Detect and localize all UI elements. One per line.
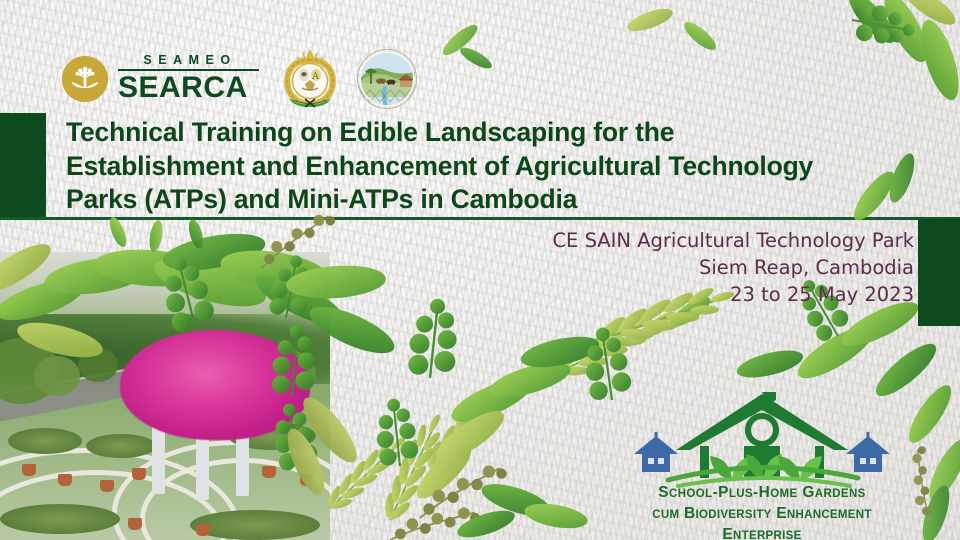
sphg-l2-f: E	[722, 526, 733, 540]
small-house-left-icon	[634, 432, 678, 472]
photo-plant-pot	[58, 474, 72, 486]
sphg-logo[interactable]: SCHOOL-PLUS-HOME GARDENS CUM BIODIVERSIT…	[612, 388, 912, 538]
photo-garden-bed	[86, 434, 156, 458]
tree-emblem-icon	[68, 60, 102, 94]
sphg-l1-c: -P	[713, 484, 729, 501]
svg-text:A: A	[311, 72, 319, 82]
searca-text: SEARCA	[118, 73, 259, 104]
location-line: Siem Reap, Cambodia	[552, 255, 914, 282]
photo-plant-pot	[196, 524, 210, 536]
sphg-l2-d: E	[772, 505, 787, 522]
left-green-block	[0, 113, 46, 218]
title-line-2: Establishment and Enhancement of Agricul…	[66, 150, 946, 184]
sphg-l1-h: ARDENS	[815, 488, 866, 500]
seameo-text: SEAMEO	[118, 54, 259, 71]
header-logo-row: SEAMEO SEARCA A	[62, 48, 417, 110]
photo-garden-bed	[8, 428, 82, 454]
poster-canvas: SEAMEO SEARCA A	[0, 0, 960, 540]
photo-plant-pot	[300, 474, 314, 486]
photo-plant-pot	[100, 480, 114, 492]
title-line-3: Parks (ATPs) and Mini-ATPs in Cambodia	[66, 183, 946, 217]
page-title: Technical Training on Edible Landscaping…	[66, 116, 946, 217]
title-line-1: Technical Training on Edible Landscaping…	[66, 116, 946, 150]
sphg-logo-text: SCHOOL-PLUS-HOME GARDENS CUM BIODIVERSIT…	[612, 483, 912, 540]
ce-sain-emblem-icon	[357, 49, 417, 109]
cambodia-ministry-emblem-icon: A	[281, 48, 339, 110]
venue-date-block: CE SAIN Agricultural Technology Park Sie…	[552, 228, 914, 309]
searca-seal-icon	[62, 56, 108, 102]
photo-tree	[34, 356, 80, 396]
sphg-line-2: CUM BIODIVERSITY ENHANCEMENT ENTERPRISE	[612, 504, 912, 540]
horizontal-green-rule	[0, 217, 960, 220]
sphg-l2-a: CUM	[652, 509, 679, 521]
sphg-l2-e: NHANCEMENT	[787, 509, 872, 521]
photo-plant-pot	[128, 518, 142, 530]
sphg-l1-b: CHOOL	[669, 488, 713, 500]
sphg-l2-b: B	[679, 505, 695, 522]
photo-plant-pot	[132, 468, 146, 480]
photo-tree	[78, 348, 118, 382]
photo-garden-bed	[0, 504, 120, 534]
photo-bougainvillea	[120, 330, 310, 440]
ce-sain-landscape-icon	[358, 50, 416, 108]
sphg-l2-g: NTERPRISE	[733, 530, 802, 540]
sphg-l1-a: S	[658, 484, 669, 501]
venue-line: CE SAIN Agricultural Technology Park	[552, 228, 914, 255]
garden-photo	[0, 252, 330, 540]
sphg-logo-icon	[612, 388, 912, 488]
sphg-l2-c: IODIVERSITY	[696, 509, 772, 521]
right-green-block	[918, 219, 960, 326]
sphg-l1-e: -H	[753, 484, 770, 501]
date-line: 23 to 25 May 2023	[552, 282, 914, 309]
sphg-l1-d: LUS	[729, 488, 753, 500]
sphg-line-1: SCHOOL-PLUS-HOME GARDENS	[612, 483, 912, 504]
searca-logo[interactable]: SEAMEO SEARCA	[62, 54, 259, 103]
searca-wordmark: SEAMEO SEARCA	[118, 54, 259, 103]
photo-plant-pot	[22, 464, 36, 476]
sphg-l1-g: G	[798, 484, 815, 501]
small-house-right-icon	[846, 432, 890, 472]
sphg-l1-f: OME	[770, 488, 797, 500]
photo-plant-pot	[262, 466, 276, 478]
